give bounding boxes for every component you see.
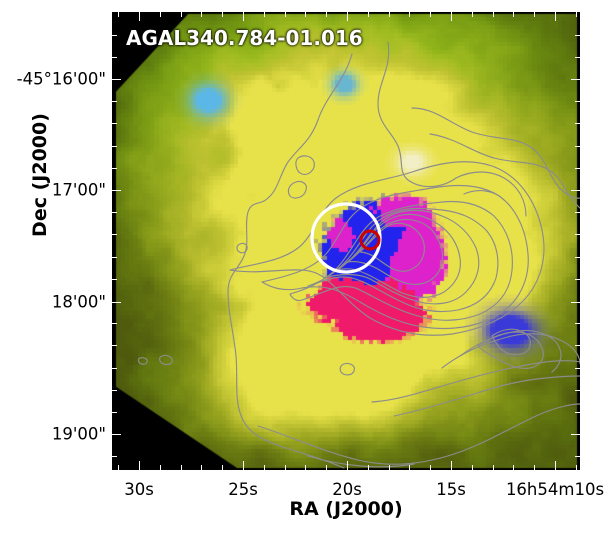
y-major-tick-right [571,79,580,80]
x-minor-tick [409,465,410,470]
y-minor-tick-right [575,234,580,235]
y-tick-label: 18'00" [52,293,106,312]
y-minor-tick-right [575,456,580,457]
y-minor-tick [112,168,117,169]
y-minor-tick [112,279,117,280]
y-minor-tick [112,345,117,346]
y-minor-tick [112,101,117,102]
contour-line [160,355,173,364]
x-minor-tick [160,465,161,470]
x-minor-tick [201,465,202,470]
contour-group [138,42,580,468]
x-minor-tick [264,465,265,470]
x-minor-tick [118,465,119,470]
y-minor-tick [112,146,117,147]
contour-line [378,42,456,187]
contour-line [492,329,530,354]
contour-line [230,162,544,335]
x-tick-label: 30s [124,480,154,499]
x-minor-tick-top [493,12,494,17]
x-axis-title: RA (J2000) [112,498,580,520]
y-minor-tick-right [575,146,580,147]
y-minor-tick-right [575,123,580,124]
astronomical-figure: -45°16'00"17'00"18'00"19'00" Dec (J2000)… [0,0,606,533]
x-minor-tick-top [472,12,473,17]
contour-line [456,172,526,216]
y-axis-title: Dec (J2000) [29,30,51,320]
y-tick-label: 17'00" [52,181,106,200]
x-minor-tick-top [181,12,182,17]
y-minor-tick [112,390,117,391]
x-tick-label: 25s [228,480,258,499]
contour-line [372,361,580,402]
contour-line [228,54,352,468]
x-minor-tick [222,465,223,470]
x-minor-tick-top [285,12,286,17]
x-minor-tick-top [430,12,431,17]
y-minor-tick-right [575,168,580,169]
y-minor-tick [112,456,117,457]
x-minor-tick-top [389,12,390,17]
y-minor-tick-right [575,101,580,102]
contour-line [478,332,543,368]
x-minor-tick-top [264,12,265,17]
x-minor-tick [576,465,577,470]
x-minor-tick [493,465,494,470]
contour-line [430,134,580,208]
y-minor-tick-right [575,257,580,258]
x-major-tick-top [347,12,348,21]
contour-line [412,108,580,198]
x-minor-tick [472,465,473,470]
y-minor-tick [112,234,117,235]
contour-line [258,404,580,464]
y-minor-tick-right [575,212,580,213]
y-minor-tick [112,35,117,36]
sky-image-panel: AGAL340.784-01.016 [112,12,580,470]
x-major-tick [243,461,244,470]
x-minor-tick-top [222,12,223,17]
overlay-annotation-layer [112,12,580,470]
x-tick-label: 15s [436,480,466,499]
x-minor-tick [305,465,306,470]
y-major-tick [112,190,121,191]
y-tick-label: 19'00" [52,425,106,444]
x-minor-tick-top [513,12,514,17]
contour-line [324,210,479,303]
y-minor-tick-right [575,323,580,324]
y-tick-label-layer: -45°16'00"17'00"18'00"19'00" [0,0,106,533]
y-minor-tick [112,257,117,258]
y-minor-tick [112,212,117,213]
x-minor-tick-top [576,12,577,17]
y-minor-tick [112,123,117,124]
x-minor-tick [326,465,327,470]
x-major-tick-top [139,12,140,21]
y-major-tick [112,434,121,435]
x-minor-tick-top [326,12,327,17]
x-minor-tick-top [534,12,535,17]
y-minor-tick-right [575,57,580,58]
contour-line [296,156,314,174]
source-title: AGAL340.784-01.016 [126,26,363,50]
x-minor-tick-top [305,12,306,17]
y-minor-tick-right [575,279,580,280]
x-minor-tick [389,465,390,470]
x-tick-label: 16h54m10s [506,480,604,499]
contour-line [308,456,414,467]
x-minor-tick [513,465,514,470]
x-minor-tick-top [409,12,410,17]
x-major-tick [555,461,556,470]
x-tick-label: 20s [332,480,362,499]
contour-line [288,181,306,198]
x-minor-tick [430,465,431,470]
y-major-tick-right [571,190,580,191]
y-major-tick-right [571,302,580,303]
x-minor-tick-top [160,12,161,17]
y-minor-tick [112,323,117,324]
y-minor-tick-right [575,412,580,413]
y-minor-tick-right [575,345,580,346]
x-minor-tick [368,465,369,470]
x-minor-tick-top [118,12,119,17]
y-minor-tick [112,368,117,369]
y-minor-tick [112,57,117,58]
x-major-tick [451,461,452,470]
x-major-tick-top [243,12,244,21]
x-minor-tick-top [201,12,202,17]
x-minor-tick-top [368,12,369,17]
y-major-tick [112,302,121,303]
x-major-tick [347,461,348,470]
x-minor-tick [534,465,535,470]
y-major-tick [112,79,121,80]
contour-line [138,358,147,365]
y-minor-tick-right [575,390,580,391]
contour-line [340,363,354,374]
x-major-tick-top [555,12,556,21]
x-major-tick-top [451,12,452,21]
contour-line [464,191,504,200]
y-minor-tick-right [575,35,580,36]
y-minor-tick [112,412,117,413]
x-minor-tick [181,465,182,470]
y-minor-tick-right [575,368,580,369]
x-minor-tick [285,465,286,470]
y-major-tick-right [571,434,580,435]
x-major-tick [139,461,140,470]
